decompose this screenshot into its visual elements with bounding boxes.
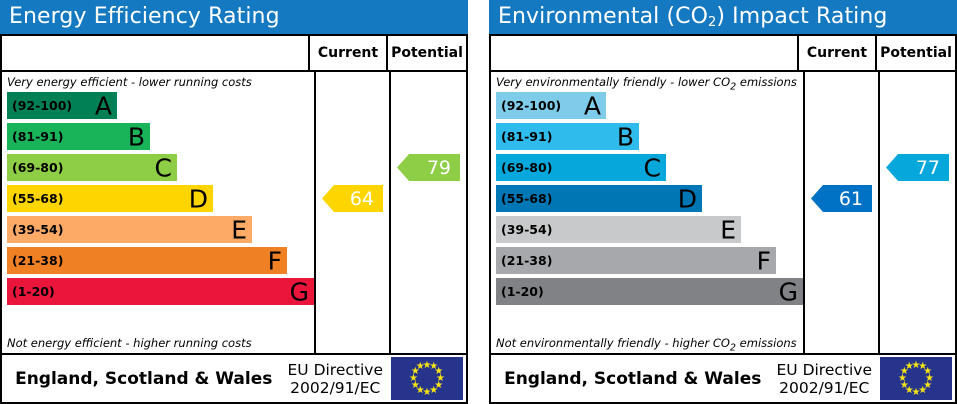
current-rating-arrow-slot: 61 bbox=[805, 185, 878, 212]
band-list: (92-100)A(81-91)B(69-80)C(55-68)D(39-54)… bbox=[491, 91, 803, 334]
rating-band-f: (21-38)F bbox=[7, 247, 287, 274]
band-letter-label: D bbox=[678, 186, 697, 211]
band-range-label: (81-91) bbox=[7, 129, 63, 144]
band-letter-label: C bbox=[644, 155, 661, 180]
environmental-impact-rating-chart: Environmental (CO2) Impact Rating Curren… bbox=[489, 0, 957, 404]
rating-band-e: (39-54)E bbox=[496, 216, 741, 243]
band-letter-label: E bbox=[231, 217, 247, 242]
band-letter-label: A bbox=[584, 93, 601, 118]
current-value-column: 64 bbox=[316, 72, 391, 353]
environmental-impact-table: Current Potential Very environmentally f… bbox=[489, 34, 957, 404]
rating-band-e: (39-54)E bbox=[7, 216, 252, 243]
header-blank-cell bbox=[491, 36, 799, 70]
potential-rating-arrow-slot: 77 bbox=[880, 154, 955, 181]
potential-value-column: 77 bbox=[880, 72, 955, 353]
band-letter-label: B bbox=[128, 124, 145, 149]
band-letter-label: E bbox=[720, 217, 736, 242]
table-header-row: Current Potential bbox=[491, 36, 955, 72]
rating-band-d: (55-68)D bbox=[496, 185, 702, 212]
caption-top: Very energy efficient - lower running co… bbox=[2, 72, 314, 91]
energy-efficiency-title: Energy Efficiency Rating bbox=[0, 0, 468, 34]
rating-band-a: (92-100)A bbox=[7, 92, 117, 119]
rating-band-f: (21-38)F bbox=[496, 247, 776, 274]
band-list: (92-100)A(81-91)B(69-80)C(55-68)D(39-54)… bbox=[2, 91, 314, 334]
current-rating-arrow-slot: 64 bbox=[316, 185, 389, 212]
caption-bottom-prefix: Not environmentally friendly - higher CO bbox=[496, 336, 730, 350]
band-range-label: (1-20) bbox=[7, 284, 55, 299]
rating-band-b: (81-91)B bbox=[496, 123, 639, 150]
caption-top-suffix: emissions bbox=[736, 75, 797, 89]
directive-line-2: 2002/91/EC bbox=[288, 379, 384, 397]
footer-row: England, Scotland & Wales EU Directive 2… bbox=[491, 355, 955, 402]
rating-band-b: (81-91)B bbox=[7, 123, 150, 150]
footer-region-label: England, Scotland & Wales bbox=[491, 369, 769, 389]
band-range-label: (39-54) bbox=[496, 222, 552, 237]
band-range-label: (81-91) bbox=[496, 129, 552, 144]
footer-directive-label: EU Directive 2002/91/EC bbox=[769, 361, 881, 397]
caption-top: Very environmentally friendly - lower CO… bbox=[491, 72, 803, 91]
potential-rating-arrow: 77 bbox=[886, 154, 949, 181]
current-value-column: 61 bbox=[805, 72, 880, 353]
rating-band-g: (1-20)G bbox=[496, 278, 803, 305]
title-suffix: ) Impact Rating bbox=[716, 4, 887, 29]
band-range-label: (55-68) bbox=[7, 191, 63, 206]
environmental-impact-title: Environmental (CO2) Impact Rating bbox=[489, 0, 957, 34]
current-rating-arrow: 64 bbox=[322, 185, 383, 212]
footer-region-label: England, Scotland & Wales bbox=[2, 369, 280, 389]
potential-value-column: 79 bbox=[391, 72, 466, 353]
band-range-label: (39-54) bbox=[7, 222, 63, 237]
rating-band-c: (69-80)C bbox=[496, 154, 666, 181]
eu-flag-icon: ★★★★★★★★★★★★ bbox=[880, 357, 952, 400]
eu-flag-star-icon: ★ bbox=[416, 362, 425, 371]
band-range-label: (21-38) bbox=[496, 253, 552, 268]
table-body-row: Very environmentally friendly - lower CO… bbox=[491, 72, 955, 355]
potential-rating-arrow: 79 bbox=[397, 154, 460, 181]
header-potential: Potential bbox=[877, 36, 955, 70]
band-range-label: (69-80) bbox=[496, 160, 552, 175]
bands-graph-column: Very environmentally friendly - lower CO… bbox=[491, 72, 805, 353]
caption-bottom: Not energy efficient - higher running co… bbox=[2, 334, 314, 353]
band-letter-label: F bbox=[268, 248, 282, 273]
directive-line-1: EU Directive bbox=[288, 361, 384, 379]
band-letter-label: A bbox=[95, 93, 112, 118]
band-letter-label: C bbox=[155, 155, 172, 180]
rating-band-d: (55-68)D bbox=[7, 185, 213, 212]
bands-graph-column: Very energy efficient - lower running co… bbox=[2, 72, 316, 353]
table-body-row: Very energy efficient - lower running co… bbox=[2, 72, 466, 355]
title-subscript: 2 bbox=[708, 15, 716, 30]
rating-band-g: (1-20)G bbox=[7, 278, 314, 305]
header-current: Current bbox=[799, 36, 877, 70]
band-range-label: (1-20) bbox=[496, 284, 544, 299]
caption-bottom: Not environmentally friendly - higher CO… bbox=[491, 334, 803, 353]
footer-row: England, Scotland & Wales EU Directive 2… bbox=[2, 355, 466, 402]
caption-top-prefix: Very environmentally friendly - lower CO bbox=[496, 75, 730, 89]
header-blank-cell bbox=[2, 36, 310, 70]
band-range-label: (21-38) bbox=[7, 253, 63, 268]
title-prefix: Environmental (CO bbox=[498, 4, 708, 29]
band-letter-label: F bbox=[757, 248, 771, 273]
band-letter-label: D bbox=[189, 186, 208, 211]
eu-flag-star-icon: ★ bbox=[905, 362, 914, 371]
epc-charts-container: Energy Efficiency Rating Current Potenti… bbox=[0, 0, 957, 404]
band-range-label: (55-68) bbox=[496, 191, 552, 206]
band-letter-label: G bbox=[290, 279, 309, 304]
energy-efficiency-table: Current Potential Very energy efficient … bbox=[0, 34, 468, 404]
directive-line-2: 2002/91/EC bbox=[777, 379, 873, 397]
header-potential: Potential bbox=[388, 36, 466, 70]
band-range-label: (92-100) bbox=[496, 98, 561, 113]
band-range-label: (92-100) bbox=[7, 98, 72, 113]
current-rating-arrow: 61 bbox=[811, 185, 872, 212]
band-range-label: (69-80) bbox=[7, 160, 63, 175]
rating-band-a: (92-100)A bbox=[496, 92, 606, 119]
potential-rating-arrow-slot: 79 bbox=[391, 154, 466, 181]
caption-bottom-suffix: emissions bbox=[736, 336, 797, 350]
band-letter-label: G bbox=[779, 279, 798, 304]
table-header-row: Current Potential bbox=[2, 36, 466, 72]
directive-line-1: EU Directive bbox=[777, 361, 873, 379]
rating-band-c: (69-80)C bbox=[7, 154, 177, 181]
eu-flag-icon: ★★★★★★★★★★★★ bbox=[391, 357, 463, 400]
footer-directive-label: EU Directive 2002/91/EC bbox=[280, 361, 392, 397]
header-current: Current bbox=[310, 36, 388, 70]
band-letter-label: B bbox=[617, 124, 634, 149]
energy-efficiency-rating-chart: Energy Efficiency Rating Current Potenti… bbox=[0, 0, 468, 404]
